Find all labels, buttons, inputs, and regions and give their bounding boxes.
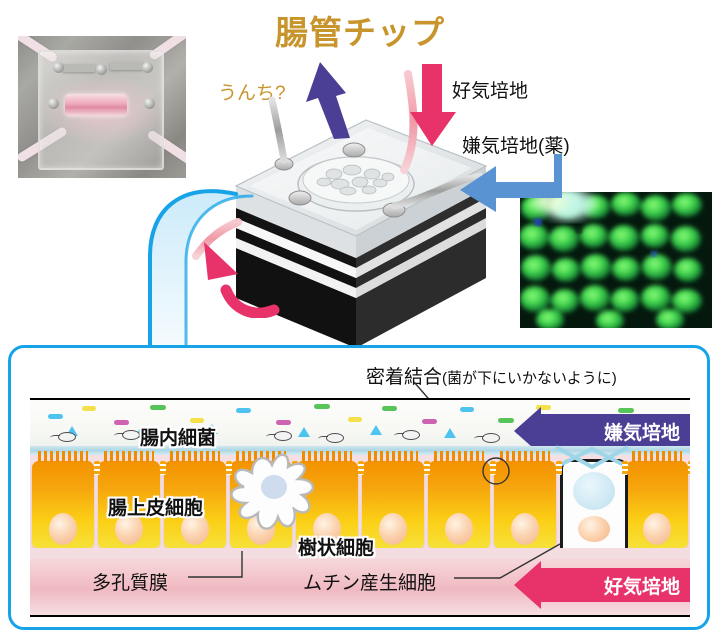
bacterium: [498, 418, 514, 423]
brush-border-icon: [632, 451, 682, 462]
tight-junction: [556, 461, 562, 475]
tight-junction-marker-circle-icon: [476, 451, 516, 493]
flagellated-bacterium: [402, 430, 420, 440]
bacterium: [460, 407, 474, 412]
flagellated-bacterium: [326, 433, 344, 443]
tight-junction: [160, 461, 166, 475]
flagellated-bacterium: [58, 432, 76, 442]
brush-border-icon: [38, 451, 88, 462]
mucin-secretion-icon: [554, 445, 630, 471]
epithelial-cell: [626, 461, 688, 549]
label-epithelial-cells: 腸上皮細胞: [108, 493, 203, 520]
tight-junction: [424, 461, 430, 475]
flagellated-bacterium: [274, 431, 292, 441]
bacterium: [314, 404, 330, 409]
anaerobic-medium-arrow: 嫌気培地: [540, 414, 690, 448]
label-mucin-cell: ムチン産生細胞: [303, 568, 436, 595]
mucin-vacuole: [573, 472, 615, 510]
mucin-cell-leader-line: [452, 540, 572, 586]
label-dendritic-cell: 樹状細胞: [298, 533, 374, 560]
photo-screw: [144, 98, 155, 109]
tight-junction: [622, 461, 628, 475]
photo-culture-channel: [65, 94, 127, 116]
callout-bracket-icon: [0, 178, 720, 358]
label-porous-membrane: 多孔質膜: [92, 568, 168, 595]
label-anaerobic-band: 嫌気培地: [604, 418, 680, 445]
epithelial-cell: [32, 461, 94, 549]
photo-screw: [53, 62, 64, 73]
photo-screw: [142, 62, 153, 73]
nucleus: [49, 513, 77, 545]
photo-clamp-bar: [110, 62, 143, 70]
bacterium: [114, 420, 129, 425]
bacterium: [236, 408, 251, 413]
bacterium: [618, 408, 634, 413]
bacterium: [382, 406, 397, 411]
nucleus: [578, 516, 610, 542]
bacterium: [422, 419, 437, 424]
bacterium: [48, 414, 63, 419]
tight-junction: [688, 461, 690, 475]
porous-membrane-leader-line: [186, 545, 256, 585]
outlet-tube: [272, 100, 284, 160]
bacterium: [444, 428, 456, 438]
tight-junction: [358, 461, 364, 475]
aerobic-arrow-down-crimson-icon: [408, 62, 462, 148]
label-gut-bacteria: 腸内細菌: [140, 423, 216, 450]
label-aerobic-medium: 好気培地: [452, 76, 528, 103]
label-aerobic-band: 好気培地: [604, 572, 680, 599]
photo-screw: [48, 98, 59, 109]
bacterium: [276, 420, 291, 425]
photo-screw: [96, 64, 107, 75]
brush-border-icon: [368, 451, 418, 462]
waste-arrow-up-purple-icon: [300, 60, 370, 140]
tight-junction: [94, 461, 100, 475]
brush-border-icon: [104, 451, 154, 462]
lumen-layer: 嫌気培地: [30, 400, 690, 446]
nucleus: [379, 513, 407, 545]
bacterium: [150, 405, 166, 410]
nucleus: [643, 513, 671, 545]
chip-photograph: [18, 36, 186, 178]
bacterium: [82, 406, 96, 411]
bacterium: [298, 427, 310, 437]
bacterium: [370, 425, 382, 435]
photo-clamp-bar: [62, 64, 95, 72]
flagellated-bacterium: [122, 430, 140, 440]
flagellated-bacterium: [482, 433, 500, 443]
bacterium: [348, 417, 362, 422]
